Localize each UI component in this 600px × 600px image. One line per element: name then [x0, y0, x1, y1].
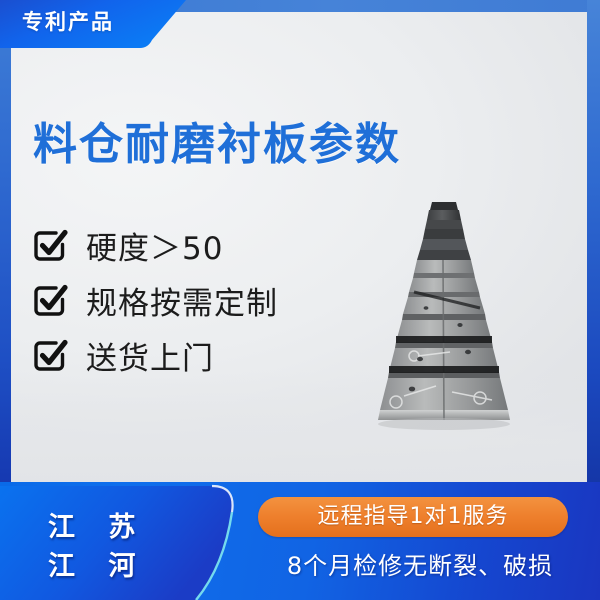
brand-name: 江 苏 江 河 [46, 508, 147, 586]
product-photo [352, 196, 532, 436]
feature-item-label: 硬度＞50 [86, 223, 223, 268]
feature-list: 硬度＞50 规格按需定制 送货上门 [32, 218, 278, 383]
patent-ribbon: 专利产品 [0, 0, 186, 48]
brand-name-line2: 江 河 [46, 547, 147, 586]
poster-root: 专利产品 料仓耐磨衬板参数 硬度＞50 规格按需定制 [0, 0, 600, 600]
checkbox-checked-icon [32, 283, 68, 319]
feature-item: 硬度＞50 [32, 218, 278, 273]
warranty-text: 8个月检修无断裂、破损 [248, 545, 592, 587]
feature-item: 送货上门 [32, 328, 278, 383]
page-title: 料仓耐磨衬板参数 [33, 108, 401, 172]
feature-item-label: 送货上门 [86, 333, 214, 378]
feature-item: 规格按需定制 [32, 273, 278, 328]
checkbox-checked-icon [32, 228, 68, 264]
service-pill-label: 远程指导1对1服务 [258, 497, 568, 537]
brand-name-line1: 江 苏 [46, 508, 147, 547]
feature-item-label: 规格按需定制 [86, 278, 278, 323]
patent-ribbon-label: 专利产品 [22, 0, 114, 48]
checkbox-checked-icon [32, 338, 68, 374]
service-pill: 远程指导1对1服务 [258, 497, 568, 537]
